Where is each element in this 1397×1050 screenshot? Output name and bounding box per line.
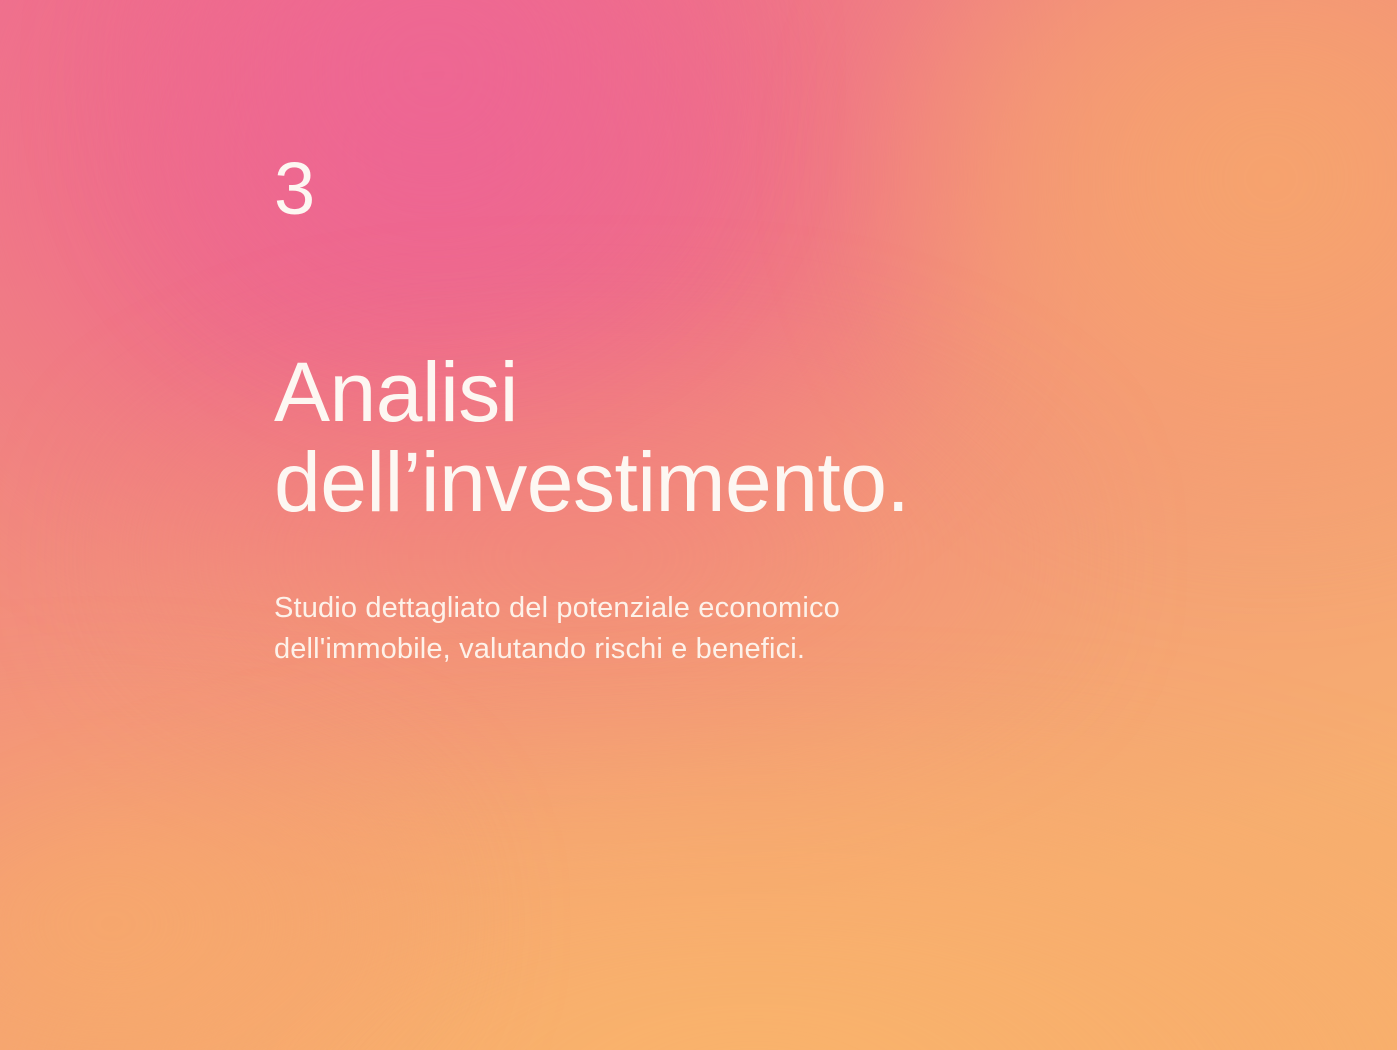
page-subtitle-line-2: dell'immobile, valutando rischi e benefi… [274,629,840,670]
page-title-line-1: Analisi [274,348,909,438]
page-subtitle-line-1: Studio dettagliato del potenziale econom… [274,588,840,629]
slide-content: 3 Analisi dell’investimento. Studio dett… [274,0,1274,1050]
presentation-slide: 3 Analisi dell’investimento. Studio dett… [0,0,1397,1050]
page-subtitle: Studio dettagliato del potenziale econom… [274,588,840,670]
page-title: Analisi dell’investimento. [274,348,909,528]
section-number: 3 [274,152,316,226]
page-title-line-2: dell’investimento. [274,438,909,528]
